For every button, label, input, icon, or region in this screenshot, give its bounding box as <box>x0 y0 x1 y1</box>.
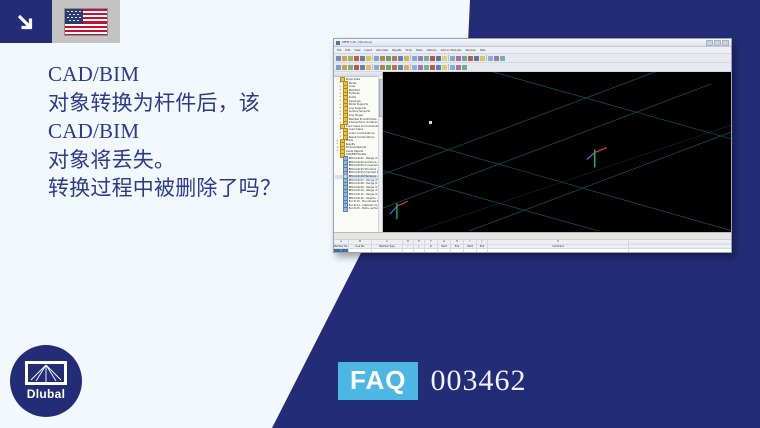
menu-item-tools[interactable]: Tools <box>405 49 411 52</box>
toolbar-button-20[interactable] <box>462 65 467 70</box>
toolbar-separator <box>372 64 373 70</box>
toolbar-button-4[interactable] <box>360 65 365 70</box>
table-column-header[interactable]: Start <box>464 245 477 248</box>
tree-spacer <box>339 197 342 200</box>
tree-spacer <box>339 161 342 164</box>
toolbar-button-16[interactable] <box>436 56 441 61</box>
table-grid[interactable]: ABCDEFGHIJKMember No.Line No.Member Type… <box>334 240 731 253</box>
table-column-header[interactable]: Member Type <box>372 245 403 248</box>
table-cell[interactable] <box>477 249 488 252</box>
tree-spacer <box>339 201 342 204</box>
toolbar-separator <box>486 55 487 61</box>
table-column-header[interactable]: End <box>477 245 488 248</box>
tree-spacer <box>339 176 342 179</box>
question-line: CAD/BIM <box>48 117 348 146</box>
menu-item-edit[interactable]: Edit <box>345 49 350 52</box>
toolbar-button-24[interactable] <box>488 56 493 61</box>
toolbar-button-10[interactable] <box>398 56 403 61</box>
table-cell[interactable] <box>464 249 477 252</box>
crosshair-cursor-icon <box>429 121 432 124</box>
table-column-letter[interactable]: C <box>372 240 403 244</box>
table-cell[interactable] <box>488 249 629 252</box>
maximize-icon[interactable] <box>714 40 721 46</box>
tree-spacer <box>339 208 342 211</box>
navigator-panel[interactable]: -Model Data+Nodes+Lines+Members+Surfaces… <box>334 72 383 232</box>
question-text: CAD/BIM 对象转换为杆件后，该 CAD/BIM 对象将丢失。 转换过程中被… <box>48 60 348 203</box>
tree-spacer <box>339 204 342 207</box>
table-row[interactable]: 1 <box>334 249 731 253</box>
viewport-grid <box>383 72 731 231</box>
toolbar-separator <box>410 64 411 70</box>
menu-item-file[interactable]: File <box>337 49 341 52</box>
toolbar-button-17[interactable] <box>442 65 447 70</box>
toolbar-button-8[interactable] <box>386 65 391 70</box>
faq-footer: FAQ 003462 <box>338 362 526 400</box>
table-column-letter[interactable]: K <box>488 240 629 244</box>
tree-spacer <box>339 190 342 193</box>
table-column-header[interactable]: i <box>403 245 414 248</box>
tree-spacer <box>339 194 342 197</box>
rfem-application-window[interactable]: RFEM 5.26 - [Structure] File Edit View I… <box>333 38 732 253</box>
table-column-letter[interactable]: A <box>334 240 349 244</box>
menu-item-help[interactable]: Help <box>480 49 486 52</box>
menu-item-table[interactable]: Table <box>416 49 423 52</box>
tree-spacer <box>339 168 342 171</box>
dlubal-bridge-icon <box>25 361 67 385</box>
toolbar-button-14[interactable] <box>424 65 429 70</box>
table-column-letter[interactable]: I <box>464 240 477 244</box>
question-line: 对象将丢失。 <box>48 146 348 175</box>
tree-spacer <box>339 186 342 189</box>
toolbar-button-7[interactable] <box>380 56 385 61</box>
coordinate-axes-icon <box>390 201 408 219</box>
toolbar-button-25[interactable] <box>494 56 499 61</box>
toolbar-button-20[interactable] <box>462 56 467 61</box>
top-left-badge <box>0 0 120 43</box>
minimize-icon[interactable] <box>706 40 713 46</box>
toolbar-separator <box>448 55 449 61</box>
toolbar-button-1[interactable] <box>342 56 347 61</box>
navigator-tree[interactable]: -Model Data+Nodes+Lines+Members+Surfaces… <box>334 77 382 211</box>
menu-item-insert[interactable]: Insert <box>365 49 372 52</box>
toolbar-button-6[interactable] <box>374 65 379 70</box>
toolbar-button-2[interactable] <box>348 56 353 61</box>
table-cell[interactable] <box>425 249 438 252</box>
menu-item-addon-modules[interactable]: Add-on Modules <box>441 49 462 52</box>
table-column-header[interactable]: Comment <box>488 245 629 248</box>
toolbar-button-10[interactable] <box>398 65 403 70</box>
question-line: CAD/BIM <box>48 60 348 89</box>
navigator-item[interactable]: B-C-B-15 - Node, surface, others <box>335 207 382 211</box>
toolbar-button-6[interactable] <box>374 56 379 61</box>
app-icon <box>336 41 340 45</box>
tree-spacer <box>339 165 342 168</box>
toolbar-button-23[interactable] <box>480 56 485 61</box>
menu-item-results[interactable]: Results <box>392 49 401 52</box>
dlubal-logo-text: Dlubal <box>27 387 65 401</box>
collapse-icon[interactable]: - <box>336 79 339 82</box>
table-column-header[interactable]: j <box>414 245 425 248</box>
table-column-letter[interactable]: J <box>477 240 488 244</box>
table-cell[interactable] <box>451 249 464 252</box>
toolbar-button-5[interactable] <box>366 56 371 61</box>
table-column-header[interactable]: Line No. <box>349 245 372 248</box>
flag-usa-icon <box>52 0 120 43</box>
toolbar-button-9[interactable] <box>392 56 397 61</box>
toolbar-button-9[interactable] <box>392 65 397 70</box>
menu-item-view[interactable]: View <box>354 49 360 52</box>
toolbar-button-15[interactable] <box>430 65 435 70</box>
question-line: 转换过程中被删除了吗？ <box>48 174 348 203</box>
table-column-letter[interactable]: B <box>349 240 372 244</box>
toolbar-button-4[interactable] <box>360 56 365 61</box>
table-cell[interactable] <box>403 249 414 252</box>
table-column-letter[interactable]: H <box>451 240 464 244</box>
table-cell[interactable]: 1 <box>334 249 349 252</box>
window-title: RFEM 5.26 - [Structure] <box>342 41 372 44</box>
toolbar-button-18[interactable] <box>450 65 455 70</box>
faq-badge: FAQ <box>338 362 418 400</box>
toolbar-button-22[interactable] <box>474 56 479 61</box>
toolbar-button-15[interactable] <box>430 56 435 61</box>
toolbar-button-3[interactable] <box>354 65 359 70</box>
toolbar-button-1[interactable] <box>342 65 347 70</box>
toolbar-button-16[interactable] <box>436 65 441 70</box>
model-viewport[interactable] <box>383 72 731 232</box>
toolbar-button-5[interactable] <box>366 65 371 70</box>
toolbar-button-2[interactable] <box>348 65 353 70</box>
table-column-header[interactable]: End <box>451 245 464 248</box>
window-controls[interactable] <box>706 40 729 46</box>
dlubal-logo: Dlubal <box>10 345 82 417</box>
table-cell[interactable] <box>349 249 372 252</box>
toolbar-button-19[interactable] <box>456 65 461 70</box>
toolbar-button-3[interactable] <box>354 56 359 61</box>
toolbar-button-0[interactable] <box>336 56 341 61</box>
toolbar-button-19[interactable] <box>456 56 461 61</box>
toolbar-button-8[interactable] <box>386 56 391 61</box>
toolbar-button-13[interactable] <box>418 65 423 70</box>
toolbar-button-21[interactable] <box>468 56 473 61</box>
arrow-down-right-icon <box>0 0 52 43</box>
navigator-scrollbar[interactable] <box>378 76 382 232</box>
tree-spacer <box>339 158 342 161</box>
faq-number: 003462 <box>430 364 526 398</box>
menu-item-window[interactable]: Window <box>465 49 475 52</box>
table-toolbar[interactable] <box>334 233 731 240</box>
toolbar-primary[interactable] <box>334 54 731 63</box>
toolbar-button-11[interactable] <box>404 56 409 61</box>
slide-canvas: CAD/BIM 对象转换为杆件后，该 CAD/BIM 对象将丢失。 转换过程中被… <box>0 0 760 428</box>
menubar[interactable]: File Edit View Insert Calculate Results … <box>334 47 731 54</box>
tree-spacer <box>339 172 342 175</box>
menu-item-calculate[interactable]: Calculate <box>376 49 388 52</box>
close-icon[interactable] <box>722 40 729 46</box>
table-panel[interactable]: ABCDEFGHIJKMember No.Line No.Member Type… <box>334 232 731 253</box>
toolbar-button-18[interactable] <box>450 56 455 61</box>
toolbar-button-0[interactable] <box>336 65 341 70</box>
toolbar-button-14[interactable] <box>424 56 429 61</box>
table-column-header[interactable]: Member No. <box>334 245 349 248</box>
toolbar-button-26[interactable] <box>500 56 505 61</box>
table-cell[interactable] <box>438 249 451 252</box>
toolbar-button-13[interactable] <box>418 56 423 61</box>
menu-item-options[interactable]: Options <box>427 49 437 52</box>
table-cell[interactable] <box>372 249 403 252</box>
table-cell[interactable] <box>414 249 425 252</box>
question-line: 对象转换为杆件后，该 <box>48 89 348 118</box>
table-column-letter[interactable]: E <box>414 240 425 244</box>
window-body: -Model Data+Nodes+Lines+Members+Surfaces… <box>334 72 731 232</box>
toolbar-separator <box>410 55 411 61</box>
tree-spacer <box>339 179 342 182</box>
collapse-icon[interactable]: - <box>336 125 339 128</box>
toolbar-button-11[interactable] <box>404 65 409 70</box>
toolbar-button-17[interactable] <box>442 56 447 61</box>
origin-axes-icon <box>587 148 607 168</box>
table-column-letter[interactable]: D <box>403 240 414 244</box>
toolbar-separator <box>448 64 449 70</box>
toolbar-secondary[interactable] <box>334 63 731 72</box>
blue-icon <box>343 207 348 212</box>
tree-spacer <box>339 183 342 186</box>
toolbar-button-12[interactable] <box>412 56 417 61</box>
table-column-header[interactable]: β <box>425 245 438 248</box>
toolbar-separator <box>372 55 373 61</box>
toolbar-button-12[interactable] <box>412 65 417 70</box>
table-column-letter[interactable]: G <box>438 240 451 244</box>
window-titlebar: RFEM 5.26 - [Structure] <box>334 39 731 47</box>
collapse-icon[interactable]: - <box>336 154 339 157</box>
toolbar-button-7[interactable] <box>380 65 385 70</box>
table-column-header[interactable]: Start <box>438 245 451 248</box>
table-column-letter[interactable]: F <box>425 240 438 244</box>
